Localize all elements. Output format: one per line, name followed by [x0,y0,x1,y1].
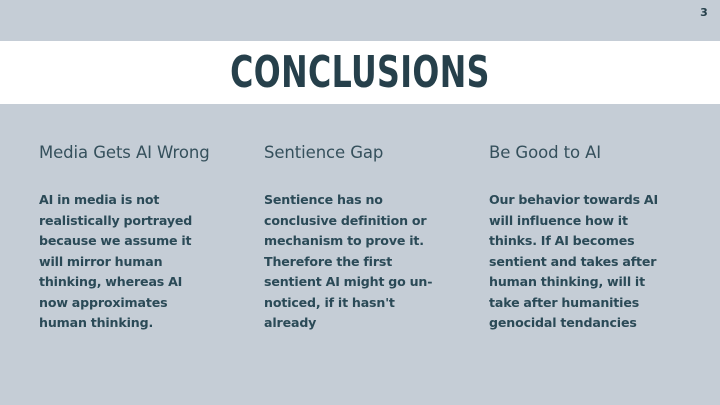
column-body: AI in media is not realistically portray… [39,190,214,334]
column-body: Our behavior towards AI will influence h… [489,190,664,334]
column-media-gets-ai-wrong: Media Gets AI Wrong AI in media is not r… [39,140,214,334]
column-body: Sentience has no conclusive definition o… [264,190,439,334]
page-title: CONCLUSIONS [72,41,648,104]
page-number: 3 [700,6,708,20]
column-heading: Sentience Gap [264,140,439,190]
content-columns: Media Gets AI Wrong AI in media is not r… [39,140,681,334]
column-be-good-to-ai: Be Good to AI Our behavior towards AI wi… [489,140,664,334]
title-band: CONCLUSIONS [0,41,720,104]
slide-canvas: 3 CONCLUSIONS Media Gets AI Wrong AI in … [0,0,720,405]
column-heading: Media Gets AI Wrong [39,140,214,190]
column-sentience-gap: Sentience Gap Sentience has no conclusiv… [264,140,439,334]
column-heading: Be Good to AI [489,140,664,190]
